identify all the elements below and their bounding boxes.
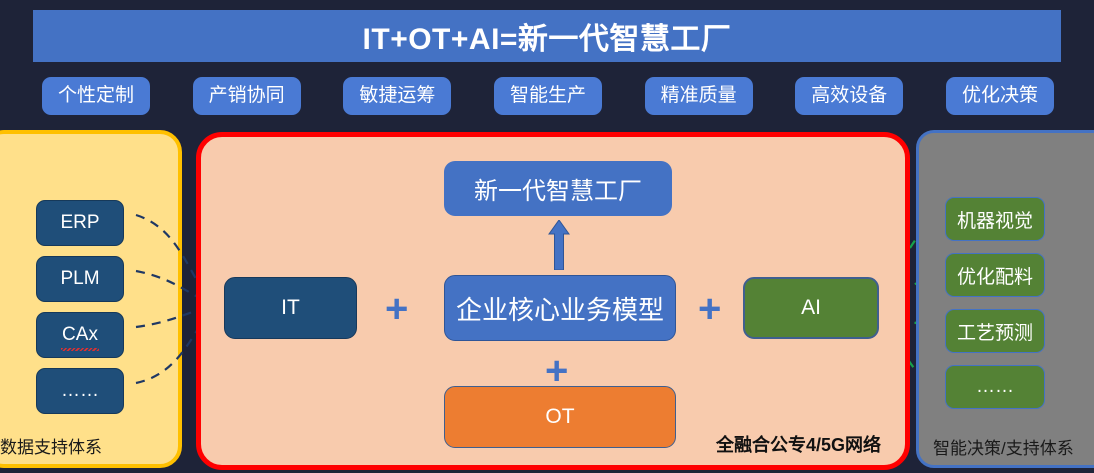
core-box-ot[interactable]: OT xyxy=(444,386,676,448)
data-box-plm[interactable]: PLM xyxy=(36,256,124,302)
decision-box-ellipsis-label: …… xyxy=(976,376,1014,398)
decision-box-ellipsis[interactable]: …… xyxy=(945,365,1045,409)
core-box-model-label: 企业核心业务模型 xyxy=(456,290,664,327)
plus-operator-below: + xyxy=(545,351,568,391)
page-title: IT+OT+AI=新一代智慧工厂 xyxy=(363,14,732,58)
data-box-plm-label: PLM xyxy=(60,268,99,290)
plus-operator-right: + xyxy=(698,289,721,329)
data-box-erp[interactable]: ERP xyxy=(36,200,124,246)
title-banner: IT+OT+AI=新一代智慧工厂 xyxy=(33,10,1061,62)
right-panel-intelligent-decision: 机器视觉 优化配料 工艺预测 …… 智能决策/支持体系 xyxy=(916,130,1094,468)
plus-operator-left: + xyxy=(385,289,408,329)
center-panel-architecture: 新一代智慧工厂 IT + 企业核心业务模型 + AI + OT 全融合公专4/5… xyxy=(196,132,910,470)
core-box-ot-label: OT xyxy=(545,405,574,429)
tag-chip-optimized-decisions[interactable]: 优化决策 xyxy=(946,77,1054,116)
decision-box-process-prediction[interactable]: 工艺预测 xyxy=(945,309,1045,353)
decision-box-material-optimization-label: 优化配料 xyxy=(957,262,1033,289)
core-box-smart-factory-label: 新一代智慧工厂 xyxy=(474,171,642,206)
tag-chip-precision-quality[interactable]: 精准质量 xyxy=(645,77,753,116)
tag-chip-efficient-equipment[interactable]: 高效设备 xyxy=(795,77,903,116)
up-arrow-icon xyxy=(548,220,570,270)
tag-chip-personalized-customization[interactable]: 个性定制 xyxy=(42,77,150,116)
data-box-ellipsis-label: …… xyxy=(61,380,99,402)
data-box-cax-label: CAx xyxy=(62,324,98,346)
tag-chip-intelligent-production[interactable]: 智能生产 xyxy=(494,77,602,116)
right-panel-caption: 智能决策/支持体系 xyxy=(933,434,1074,459)
core-box-ai[interactable]: AI xyxy=(743,277,879,339)
center-panel-caption: 全融合公专4/5G网络 xyxy=(716,431,881,457)
core-box-smart-factory[interactable]: 新一代智慧工厂 xyxy=(444,161,672,216)
decision-box-material-optimization[interactable]: 优化配料 xyxy=(945,253,1045,297)
capability-tag-row: 个性定制 产销协同 敏捷运筹 智能生产 精准质量 高效设备 优化决策 xyxy=(42,71,1054,121)
core-box-enterprise-business-model[interactable]: 企业核心业务模型 xyxy=(444,275,676,341)
decision-box-process-prediction-label: 工艺预测 xyxy=(957,318,1033,345)
left-panel-data-support: ERP PLM CAx …… 数据支持体系 xyxy=(0,130,182,468)
tag-chip-production-sales-coordination[interactable]: 产销协同 xyxy=(193,77,301,116)
left-panel-caption: 数据支持体系 xyxy=(0,433,102,458)
core-box-ai-label: AI xyxy=(801,296,821,320)
decision-box-machine-vision-label: 机器视觉 xyxy=(957,206,1033,233)
data-box-erp-label: ERP xyxy=(60,212,99,234)
data-box-cax[interactable]: CAx xyxy=(36,312,124,358)
decision-box-machine-vision[interactable]: 机器视觉 xyxy=(945,197,1045,241)
core-box-it-label: IT xyxy=(281,296,300,320)
tag-chip-agile-operations[interactable]: 敏捷运筹 xyxy=(343,77,451,116)
data-box-ellipsis[interactable]: …… xyxy=(36,368,124,414)
core-box-it[interactable]: IT xyxy=(224,277,357,339)
